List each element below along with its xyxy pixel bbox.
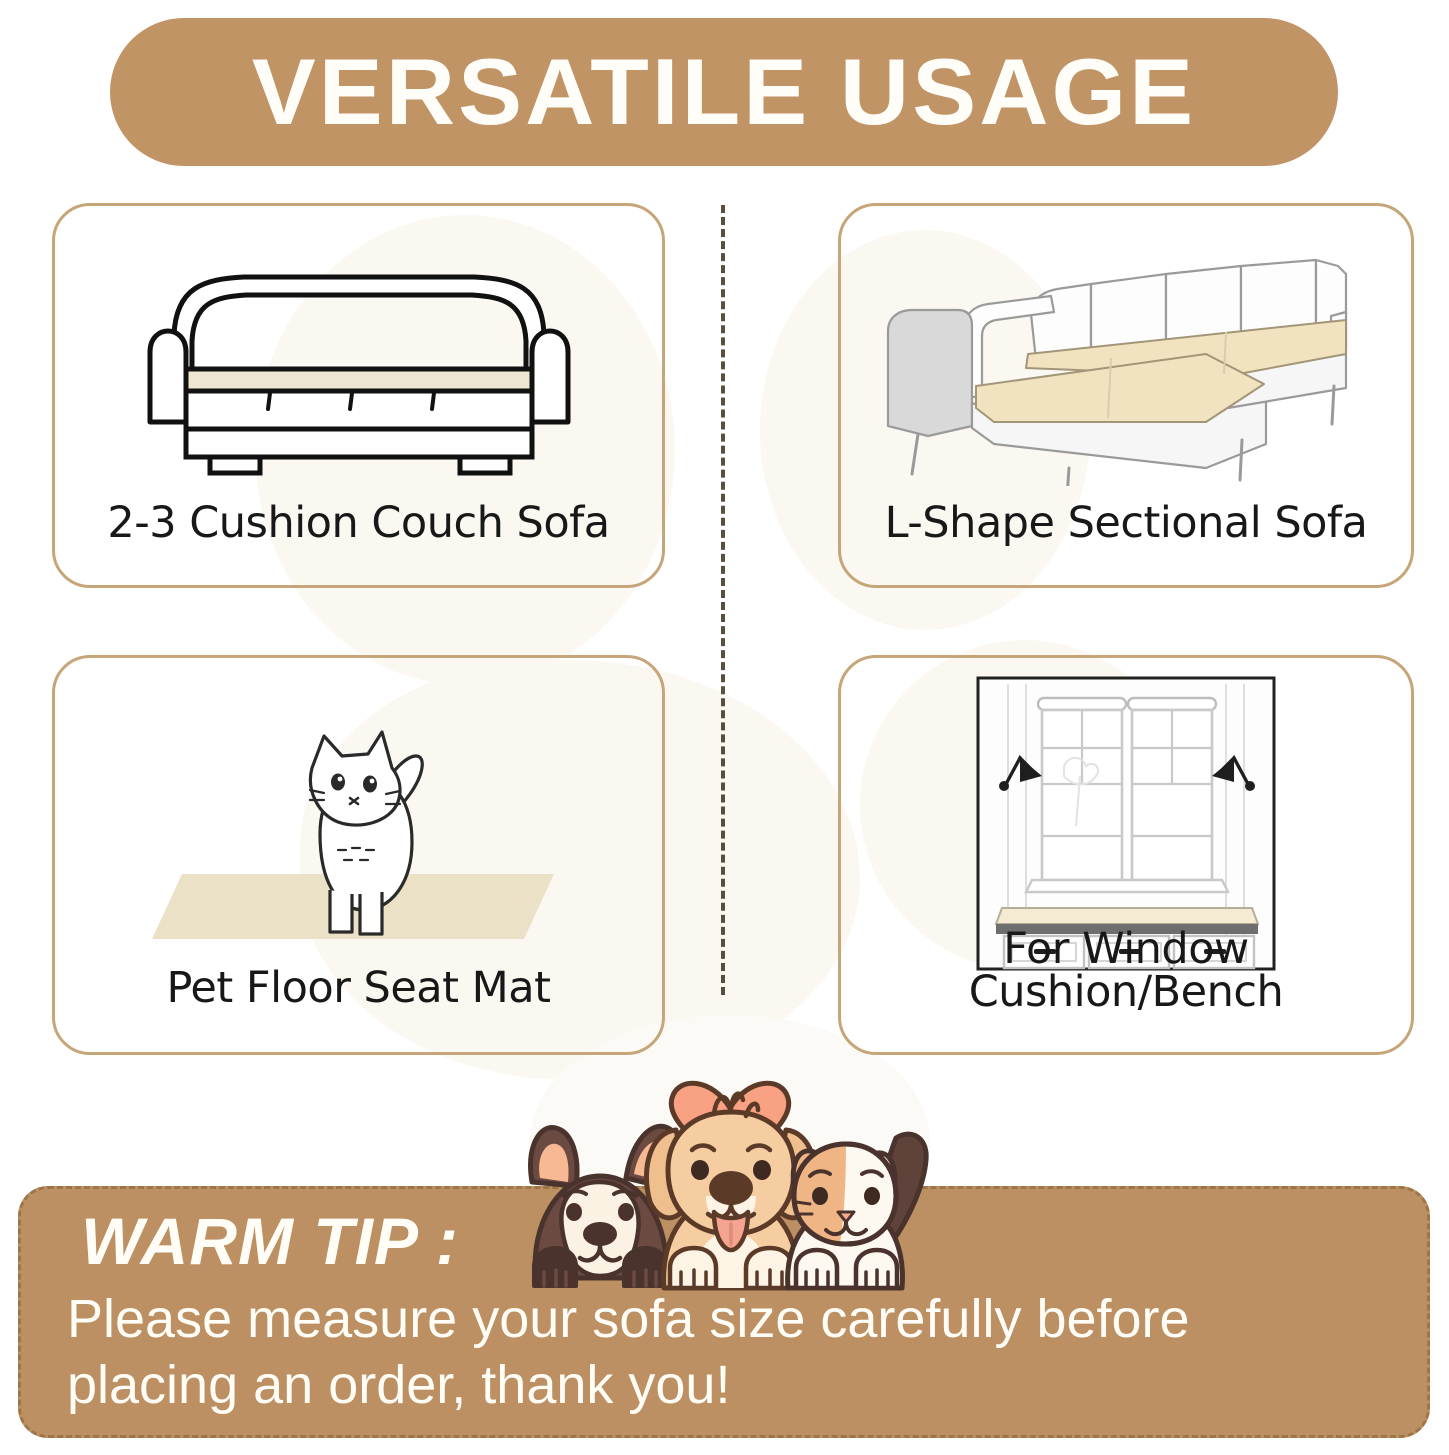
warm-tip-body: Please measure your sofa size carefully … [67, 1287, 1417, 1419]
usage-card-pet-mat: Pet Floor Seat Mat [52, 655, 665, 1055]
usage-card-label: L-Shape Sectional Sofa [841, 502, 1411, 545]
usage-card-sectional-sofa: L-Shape Sectional Sofa [838, 203, 1414, 588]
pets-illustration-group [500, 1010, 960, 1300]
l-shape-sectional-sofa-icon [841, 236, 1411, 486]
usage-card-label: Pet Floor Seat Mat [55, 967, 662, 1010]
vertical-dashed-divider [721, 205, 725, 995]
usage-card-couch-sofa: 2-3 Cushion Couch Sofa [52, 203, 665, 588]
infographic-root: VERSATILE USAGE [0, 0, 1449, 1455]
header-banner: VERSATILE USAGE [110, 18, 1338, 166]
usage-card-window-bench: For Window Cushion/Bench [838, 655, 1414, 1055]
calico-cat-icon [788, 1134, 927, 1288]
warm-tip-line-2: placing an order, thank you! [67, 1353, 1417, 1419]
page-title: VERSATILE USAGE [252, 45, 1196, 139]
couch-sofa-icon [55, 254, 662, 484]
warm-tip-heading: WARM TIP : [81, 1203, 459, 1279]
usage-card-label: 2-3 Cushion Couch Sofa [55, 502, 662, 545]
usage-card-label: For Window Cushion/Bench [841, 928, 1411, 1014]
cat-on-mat-icon [55, 696, 662, 956]
